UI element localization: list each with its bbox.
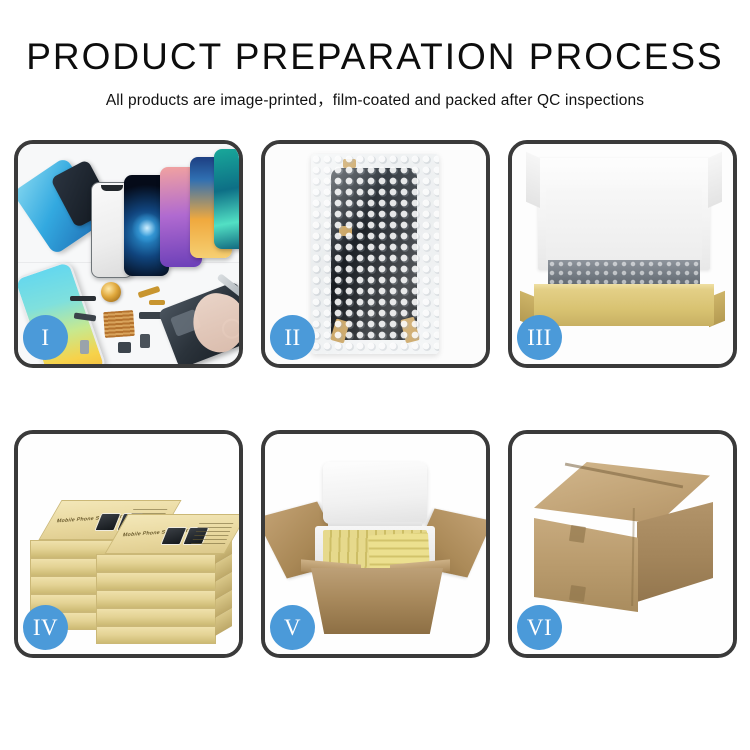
earpiece-part bbox=[70, 296, 96, 301]
kraft-box-front bbox=[534, 290, 714, 326]
step-badge-5: V bbox=[270, 605, 315, 650]
process-step-panel-4: Mobile Phone Spare Parts Mobile Phone Sp… bbox=[14, 430, 243, 658]
phone-screen-teal-wallpaper bbox=[214, 149, 239, 249]
retail-box-lid-front: Mobile Phone Spare Parts bbox=[104, 514, 239, 554]
bubble-wrap-bag bbox=[311, 154, 439, 354]
carton-tape-upper bbox=[569, 525, 586, 543]
flex-cable-part bbox=[138, 286, 161, 299]
page-title: PRODUCT PREPARATION PROCESS bbox=[0, 38, 750, 75]
carton-tape-lower bbox=[569, 585, 586, 602]
page-header: PRODUCT PREPARATION PROCESS All products… bbox=[0, 0, 750, 110]
copper-shield-part bbox=[103, 310, 135, 338]
step-badge-1: I bbox=[23, 315, 68, 360]
process-steps-grid: I II bbox=[14, 140, 736, 658]
box-inner-wall bbox=[546, 188, 702, 260]
step-badge-2: II bbox=[270, 315, 315, 360]
foam-box-lid bbox=[323, 462, 427, 524]
flex-cable-part bbox=[149, 300, 165, 305]
process-step-panel-1: I bbox=[14, 140, 243, 368]
process-step-panel-6: VI bbox=[508, 430, 737, 658]
plastic-gloss bbox=[311, 154, 439, 354]
process-step-panel-5: V bbox=[261, 430, 490, 658]
small-component-part bbox=[80, 340, 89, 354]
vibration-motor-part bbox=[101, 282, 121, 302]
page-subtitle: All products are image-printed，film-coat… bbox=[0, 88, 750, 110]
process-step-panel-2: II bbox=[261, 140, 490, 368]
step-badge-6: VI bbox=[517, 605, 562, 650]
step-badge-3: III bbox=[517, 315, 562, 360]
shipping-carton-body bbox=[311, 568, 443, 634]
carton-front-face bbox=[534, 518, 638, 612]
process-step-panel-3: III bbox=[508, 140, 737, 368]
small-component-part bbox=[118, 342, 131, 353]
small-component-part bbox=[140, 334, 150, 348]
step-badge-4: IV bbox=[23, 605, 68, 650]
